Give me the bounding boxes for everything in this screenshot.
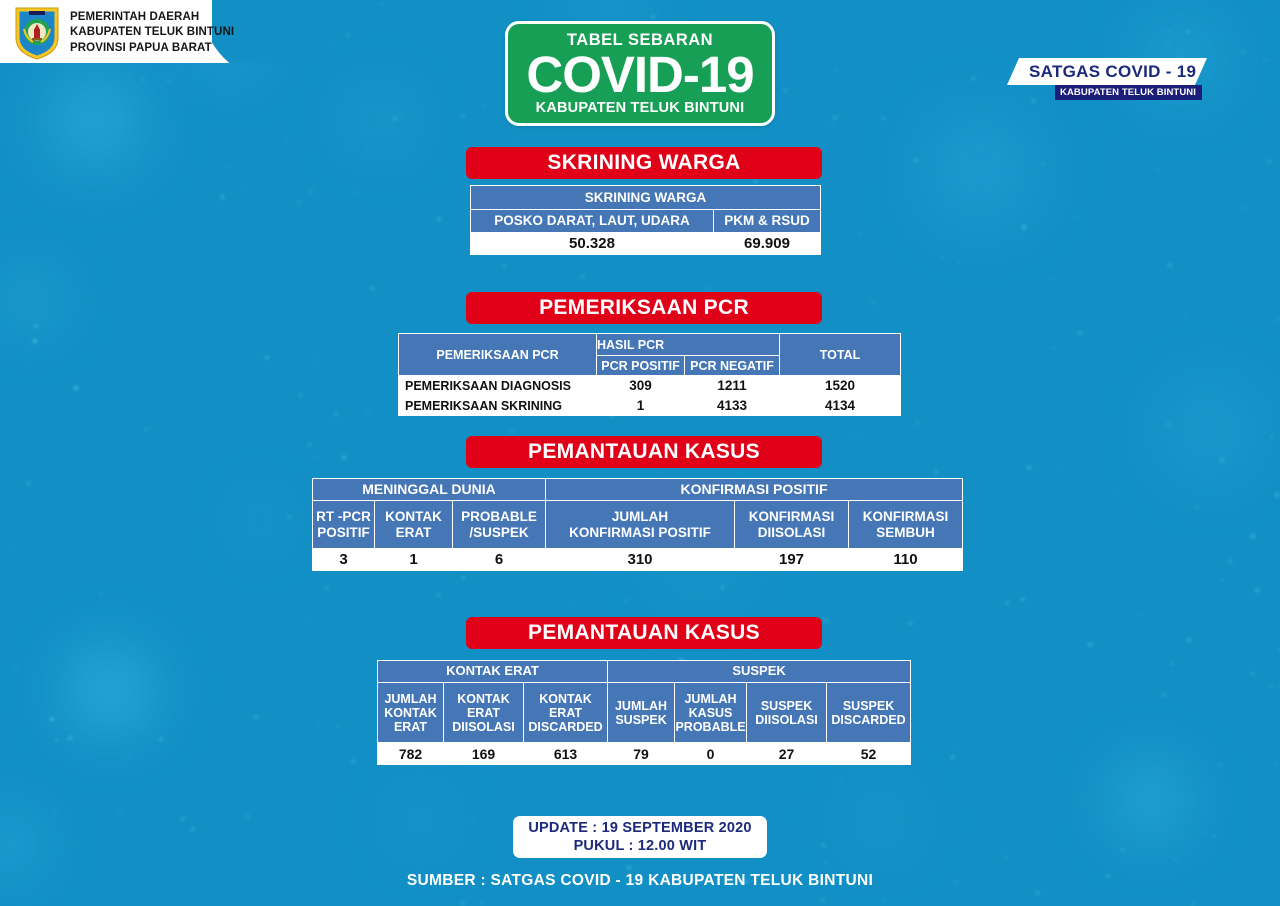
pk1-col-5: KONFIRMASI SEMBUH (849, 501, 963, 549)
pcr-group-hasil: HASIL PCR (597, 334, 780, 356)
pk1-col-5-line-1: SEMBUH (849, 525, 962, 540)
pk2-col-5-line-0: SUSPEK (747, 699, 826, 713)
pk1-group-meninggal: MENINGGAL DUNIA (313, 479, 546, 501)
table-pemantauan-kasus-2: KONTAK ERAT SUSPEK JUMLAH KONTAK ERAT KO… (377, 660, 911, 765)
pk1-col-2-line-1: /SUSPEK (453, 525, 545, 540)
pk2-col-0-line-2: ERAT (378, 720, 443, 734)
update-date: UPDATE : 19 SEPTEMBER 2020 (528, 819, 751, 837)
pcr-row-0-negatif: 1211 (685, 376, 780, 396)
page-title-card: TABEL SEBARAN COVID-19 KABUPATEN TELUK B… (505, 21, 775, 126)
pk2-value-1: 169 (444, 743, 524, 765)
section-badge-pemeriksaan-pcr: PEMERIKSAAN PCR (466, 292, 822, 324)
pk2-group-suspek: SUSPEK (608, 661, 911, 683)
pk2-col-2: KONTAK ERAT DISCARDED (524, 683, 608, 743)
pk2-col-6-line-1: DISCARDED (827, 713, 910, 727)
satgas-subtitle: KABUPATEN TELUK BINTUNI (1060, 87, 1196, 98)
pk2-value-0: 782 (378, 743, 444, 765)
pk1-col-3-line-0: JUMLAH (546, 509, 734, 524)
gov-line-1: PEMERINTAH DAERAH (70, 10, 234, 25)
pk2-col-1: KONTAK ERAT DIISOLASI (444, 683, 524, 743)
pk1-col-2: PROBABLE /SUSPEK (453, 501, 546, 549)
satgas-badge: SATGAS COVID - 19 KABUPATEN TELUK BINTUN… (1007, 58, 1222, 106)
table-skrining-warga: SKRINING WARGA POSKO DARAT, LAUT, UDARA … (470, 185, 821, 255)
pk2-col-2-line-0: KONTAK (524, 692, 607, 706)
table-row-group-header: MENINGGAL DUNIA KONFIRMASI POSITIF (313, 479, 963, 501)
pcr-row-1-negatif: 4133 (685, 396, 780, 416)
pcr-row-1-positif: 1 (597, 396, 685, 416)
pk2-value-5: 27 (747, 743, 827, 765)
table-pemantauan-kasus-1: MENINGGAL DUNIA KONFIRMASI POSITIF RT -P… (312, 478, 963, 571)
pk1-col-1-line-1: ERAT (375, 525, 452, 540)
gov-line-2: KABUPATEN TELUK BINTUNI (70, 25, 234, 40)
pk2-col-4-line-0: JUMLAH (675, 692, 746, 706)
source-label: SUMBER : SATGAS COVID - 19 KABUPATEN TEL… (0, 872, 1280, 890)
title-bottom: KABUPATEN TELUK BINTUNI (536, 100, 745, 116)
gov-line-3: PROVINSI PAPUA BARAT (70, 41, 234, 56)
pk1-value-1: 1 (375, 549, 453, 571)
pk1-col-5-line-0: KONFIRMASI (849, 509, 962, 524)
pk1-col-4: KONFIRMASI DIISOLASI (735, 501, 849, 549)
pk2-col-3-line-1: SUSPEK (608, 713, 674, 727)
pk1-value-2: 6 (453, 549, 546, 571)
skrining-group-header: SKRINING WARGA (471, 186, 821, 210)
table-row-column-header: JUMLAH KONTAK ERAT KONTAK ERAT DIISOLASI… (378, 683, 911, 743)
table-row: PEMERIKSAAN DIAGNOSIS 309 1211 1520 (399, 376, 901, 396)
pk2-col-2-line-2: DISCARDED (524, 720, 607, 734)
table-row: 782 169 613 79 0 27 52 (378, 743, 911, 765)
table-row-column-header: POSKO DARAT, LAUT, UDARA PKM & RSUD (471, 210, 821, 233)
pk1-col-1-line-0: KONTAK (375, 509, 452, 524)
pk2-group-kontak-erat: KONTAK ERAT (378, 661, 608, 683)
government-title: PEMERINTAH DAERAH KABUPATEN TELUK BINTUN… (70, 10, 234, 56)
pk2-col-5: SUSPEK DIISOLASI (747, 683, 827, 743)
pk1-value-3: 310 (546, 549, 735, 571)
pk1-value-0: 3 (313, 549, 375, 571)
pk2-col-0-line-0: JUMLAH (378, 692, 443, 706)
pk2-value-4: 0 (675, 743, 747, 765)
page-title: COVID-19 (526, 50, 753, 100)
skrining-col-posko: POSKO DARAT, LAUT, UDARA (471, 210, 714, 233)
pk2-col-4: JUMLAH KASUS PROBABLE (675, 683, 747, 743)
pk1-value-4: 197 (735, 549, 849, 571)
pcr-row-0-total: 1520 (780, 376, 901, 396)
pk2-col-1-line-0: KONTAK (444, 692, 523, 706)
pk2-col-6-line-0: SUSPEK (827, 699, 910, 713)
satgas-badge-top: SATGAS COVID - 19 (1007, 58, 1207, 85)
table-row-group-header: PEMERIKSAAN PCR HASIL PCR TOTAL (399, 334, 901, 356)
pcr-col-negatif: PCR NEGATIF (685, 356, 780, 376)
pk1-col-0: RT -PCR POSITIF (313, 501, 375, 549)
pk1-value-5: 110 (849, 549, 963, 571)
pk2-value-2: 613 (524, 743, 608, 765)
pcr-row-0-label: PEMERIKSAAN DIAGNOSIS (399, 376, 597, 396)
table-row: 50.328 69.909 (471, 233, 821, 255)
satgas-title: SATGAS COVID - 19 (1029, 62, 1196, 82)
pk1-group-konfirmasi: KONFIRMASI POSITIF (546, 479, 963, 501)
skrining-col-pkm: PKM & RSUD (714, 210, 821, 233)
table-row-group-header: KONTAK ERAT SUSPEK (378, 661, 911, 683)
table-row-column-header: RT -PCR POSITIF KONTAK ERAT PROBABLE /SU… (313, 501, 963, 549)
pk2-col-0-line-1: KONTAK (378, 706, 443, 720)
table-pemeriksaan-pcr: PEMERIKSAAN PCR HASIL PCR TOTAL PCR POSI… (398, 333, 901, 416)
pk2-col-4-line-1: KASUS (675, 706, 746, 720)
pk1-col-3: JUMLAH KONFIRMASI POSITIF (546, 501, 735, 549)
pk2-col-1-line-2: DIISOLASI (444, 720, 523, 734)
pk2-value-6: 52 (827, 743, 911, 765)
pk2-col-5-line-1: DIISOLASI (747, 713, 826, 727)
pcr-row-1-total: 4134 (780, 396, 901, 416)
pcr-row-1-label: PEMERIKSAAN SKRINING (399, 396, 597, 416)
pcr-row-0-positif: 309 (597, 376, 685, 396)
table-row-group-header: SKRINING WARGA (471, 186, 821, 210)
pcr-col-positif: PCR POSITIF (597, 356, 685, 376)
pcr-col-label: PEMERIKSAAN PCR (399, 334, 597, 376)
pk2-col-0: JUMLAH KONTAK ERAT (378, 683, 444, 743)
skrining-value-pkm: 69.909 (714, 233, 821, 255)
pcr-col-total: TOTAL (780, 334, 901, 376)
pk2-value-3: 79 (608, 743, 675, 765)
pk2-col-4-line-2: PROBABLE (675, 720, 746, 734)
pk1-col-1: KONTAK ERAT (375, 501, 453, 549)
skrining-value-posko: 50.328 (471, 233, 714, 255)
pk2-col-3-line-0: JUMLAH (608, 699, 674, 713)
table-row: 3 1 6 310 197 110 (313, 549, 963, 571)
section-badge-skrining-warga: SKRINING WARGA (466, 147, 822, 179)
pk1-col-0-line-1: POSITIF (313, 525, 374, 540)
pk2-col-3: JUMLAH SUSPEK (608, 683, 675, 743)
pk1-col-3-line-1: KONFIRMASI POSITIF (546, 525, 734, 540)
satgas-badge-bottom: KABUPATEN TELUK BINTUNI (1055, 85, 1202, 100)
section-badge-pemantauan-kasus-2: PEMANTAUAN KASUS (466, 617, 822, 649)
update-time: PUKUL : 12.00 WIT (574, 837, 707, 855)
pk2-col-6: SUSPEK DISCARDED (827, 683, 911, 743)
update-timestamp-box: UPDATE : 19 SEPTEMBER 2020 PUKUL : 12.00… (513, 816, 767, 858)
section-badge-pemantauan-kasus-1: PEMANTAUAN KASUS (466, 436, 822, 468)
table-row: PEMERIKSAAN SKRINING 1 4133 4134 (399, 396, 901, 416)
pk2-col-2-line-1: ERAT (524, 706, 607, 720)
kabupaten-teluk-bintuni-crest-icon (13, 5, 61, 61)
pk1-col-2-line-0: PROBABLE (453, 509, 545, 524)
pk2-col-1-line-1: ERAT (444, 706, 523, 720)
pk1-col-4-line-0: KONFIRMASI (735, 509, 848, 524)
pk1-col-0-line-0: RT -PCR (313, 509, 374, 524)
pk1-col-4-line-1: DIISOLASI (735, 525, 848, 540)
